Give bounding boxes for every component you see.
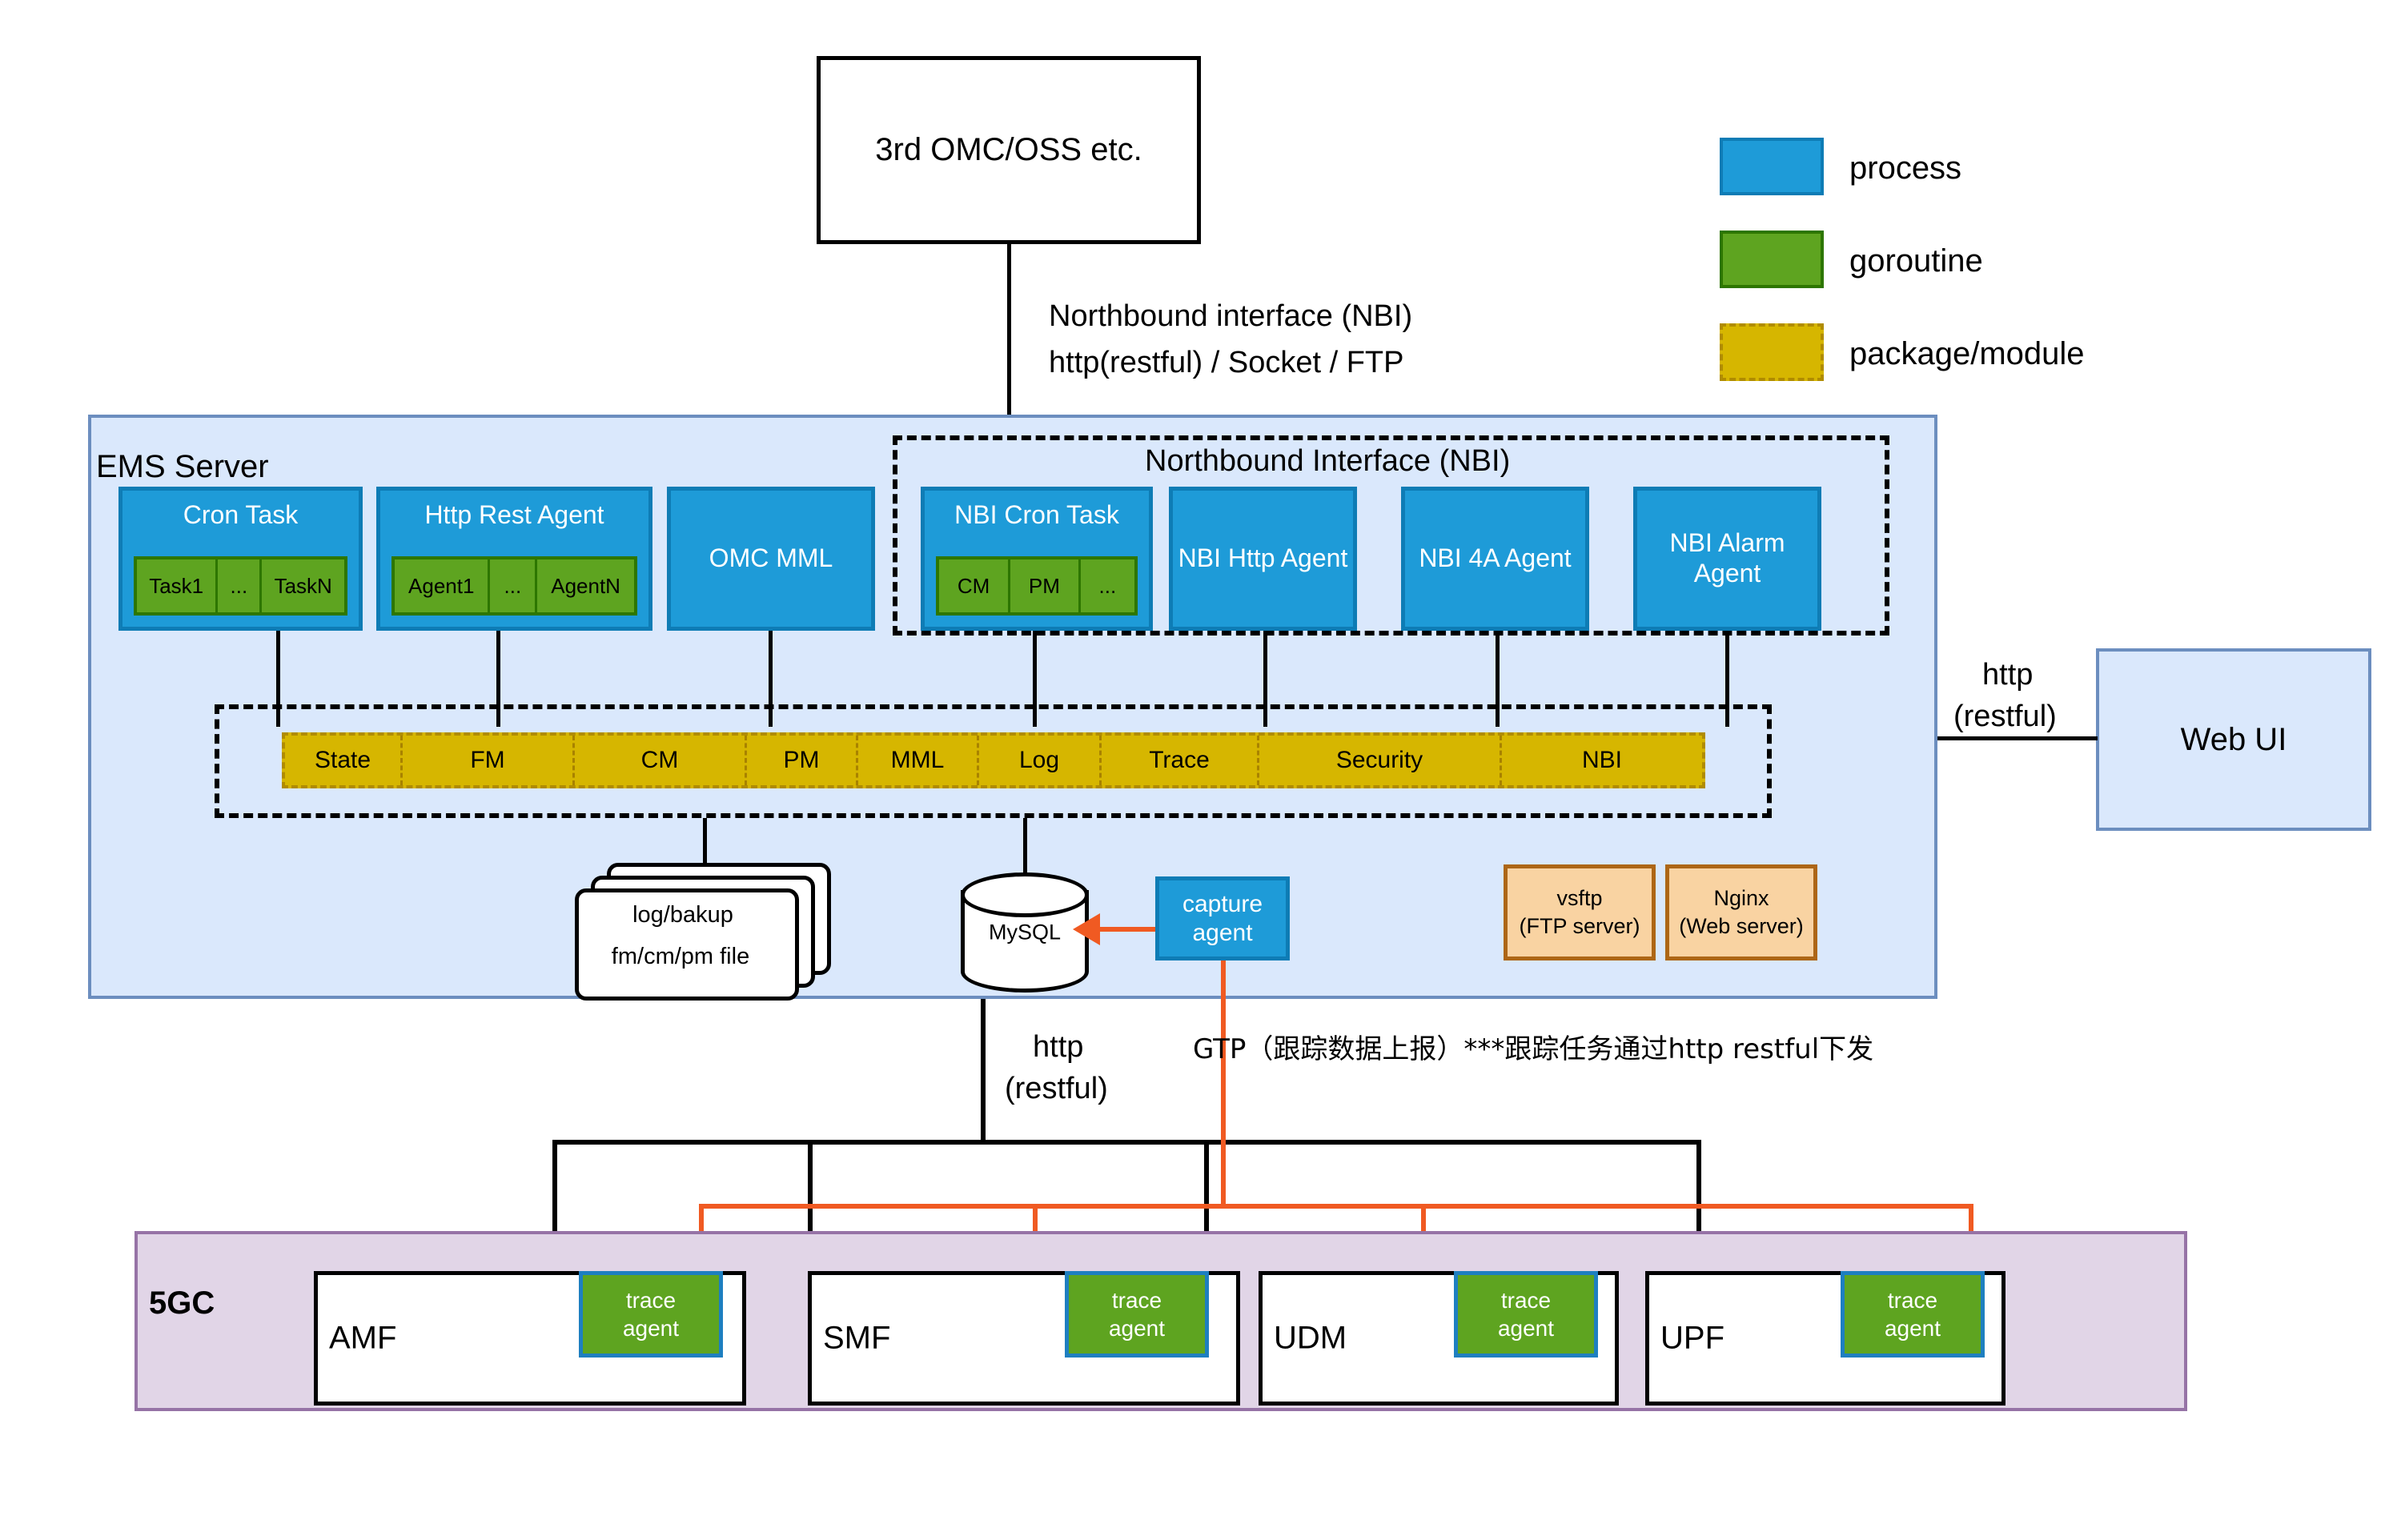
connector-omc-to-ems (1007, 244, 1011, 416)
trace-agent-upf[interactable]: trace agent (1841, 1271, 1985, 1358)
web-ui-link-line2: (restful) (1953, 698, 2057, 736)
goroutine-cell: ... (490, 559, 537, 612)
goroutine-strip-http-rest-agent: Agent1 ... AgentN (391, 556, 637, 616)
web-ui-link-line1: http (1982, 656, 2033, 695)
module-fm[interactable]: FM (403, 736, 575, 785)
process-nbi-4a-agent[interactable]: NBI 4A Agent (1401, 487, 1589, 631)
module-security[interactable]: Security (1259, 736, 1502, 785)
trace-agent-amf-label: trace agent (623, 1286, 679, 1342)
nbi-group-title: Northbound Interface (NBI) (1145, 443, 1510, 481)
log-backup-label-line1: log/bakup (575, 903, 791, 928)
log-backup-label-line2: fm/cm/pm file (568, 944, 793, 970)
legend-label-goroutine: goroutine (1849, 241, 1983, 281)
goroutine-cell: CM (939, 559, 1010, 612)
goroutine-cell: Task1 (137, 559, 218, 612)
module-nbi[interactable]: NBI (1502, 736, 1702, 785)
goroutine-cell: ... (1081, 559, 1134, 612)
server-vsftp-role: (FTP server) (1519, 912, 1640, 940)
module-bar: State FM CM PM MML Log Trace Security NB… (282, 732, 1705, 788)
network-function-udm-label: UDM (1274, 1321, 1347, 1357)
process-cron-task[interactable]: Cron Task Task1 ... TaskN (118, 487, 363, 631)
process-omc-mml[interactable]: OMC MML (667, 487, 875, 631)
module-log[interactable]: Log (979, 736, 1102, 785)
server-nginx[interactable]: Nginx (Web server) (1665, 864, 1817, 960)
process-nbi-alarm-agent-label: NBI Alarm Agent (1637, 528, 1817, 589)
network-function-smf-label: SMF (823, 1321, 890, 1357)
goroutine-strip-nbi-cron-task: CM PM ... (936, 556, 1138, 616)
goroutine-cell: AgentN (537, 559, 634, 612)
legend-swatch-goroutine (1720, 231, 1824, 288)
trace-agent-amf[interactable]: trace agent (579, 1271, 723, 1358)
process-http-rest-agent[interactable]: Http Rest Agent Agent1 ... AgentN (376, 487, 652, 631)
architecture-diagram: 3rd OMC/OSS etc. Northbound interface (N… (0, 0, 2405, 1540)
module-cm[interactable]: CM (575, 736, 747, 785)
cylinder-top (961, 872, 1089, 917)
server-vsftp[interactable]: vsftp (FTP server) (1504, 864, 1656, 960)
legend-swatch-package-module (1720, 323, 1824, 381)
process-nbi-4a-agent-label: NBI 4A Agent (1405, 543, 1585, 574)
network-function-upf-label: UPF (1660, 1321, 1724, 1357)
mysql-database: MySQL (961, 872, 1089, 993)
module-state[interactable]: State (285, 736, 403, 785)
process-http-rest-agent-label: Http Rest Agent (380, 500, 648, 531)
trace-agent-smf[interactable]: trace agent (1065, 1271, 1209, 1358)
goroutine-cell: PM (1010, 559, 1081, 612)
arrowhead-capture-to-mysql (1073, 913, 1100, 945)
process-capture-agent[interactable]: capture agent (1155, 876, 1290, 960)
trace-agent-upf-label: trace agent (1885, 1286, 1941, 1342)
goroutine-cell: Agent1 (395, 559, 490, 612)
goroutine-strip-cron-task: Task1 ... TaskN (134, 556, 347, 616)
server-vsftp-name: vsftp (1556, 884, 1602, 912)
south-http-label-line1: http (1033, 1029, 1083, 1067)
web-ui-box[interactable]: Web UI (2096, 648, 2371, 831)
process-nbi-cron-task-label: NBI Cron Task (925, 500, 1149, 531)
process-omc-mml-label: OMC MML (671, 543, 871, 574)
core-network-5gc-title: 5GC (149, 1283, 215, 1323)
module-trace[interactable]: Trace (1102, 736, 1259, 785)
web-ui-label: Web UI (2181, 722, 2287, 758)
process-nbi-cron-task[interactable]: NBI Cron Task CM PM ... (921, 487, 1153, 631)
process-nbi-http-agent[interactable]: NBI Http Agent (1169, 487, 1357, 631)
gtp-note-label: GTP（跟踪数据上报）***跟踪任务通过http restful下发 (1193, 1033, 1873, 1067)
process-nbi-http-agent-label: NBI Http Agent (1173, 543, 1353, 574)
network-function-amf-label: AMF (329, 1321, 396, 1357)
legend-label-package-module: package/module (1849, 334, 2085, 374)
process-cron-task-label: Cron Task (122, 500, 359, 531)
connector-capture-agent-to-mysql (1098, 927, 1159, 932)
connector-ems-to-web-ui (1937, 736, 2098, 740)
trace-agent-udm[interactable]: trace agent (1454, 1271, 1598, 1358)
nbi-link-line1: Northbound interface (NBI) (1049, 298, 1412, 336)
server-nginx-role: (Web server) (1679, 912, 1804, 940)
process-nbi-alarm-agent[interactable]: NBI Alarm Agent (1633, 487, 1821, 631)
legend-swatch-process (1720, 138, 1824, 195)
connector-capture-agent-south-trunk (1221, 960, 1226, 1207)
third-party-omc-box: 3rd OMC/OSS etc. (817, 56, 1201, 244)
goroutine-cell: TaskN (262, 559, 344, 612)
goroutine-cell: ... (218, 559, 262, 612)
trace-agent-udm-label: trace agent (1498, 1286, 1554, 1342)
mysql-label: MySQL (961, 920, 1089, 945)
process-capture-agent-label: capture agent (1159, 890, 1286, 947)
module-pm[interactable]: PM (747, 736, 858, 785)
third-party-omc-label: 3rd OMC/OSS etc. (875, 132, 1142, 168)
connector-trace-bus (699, 1204, 1973, 1209)
ems-server-title: EMS Server (96, 447, 269, 487)
trace-agent-smf-label: trace agent (1109, 1286, 1165, 1342)
connector-ems-south-trunk (981, 999, 986, 1145)
nbi-link-line2: http(restful) / Socket / FTP (1049, 344, 1403, 383)
module-mml[interactable]: MML (858, 736, 979, 785)
connector-south-bus (552, 1140, 1701, 1145)
server-nginx-name: Nginx (1713, 884, 1769, 912)
south-http-label-line2: (restful) (1005, 1070, 1108, 1109)
legend-label-process: process (1849, 148, 1961, 188)
